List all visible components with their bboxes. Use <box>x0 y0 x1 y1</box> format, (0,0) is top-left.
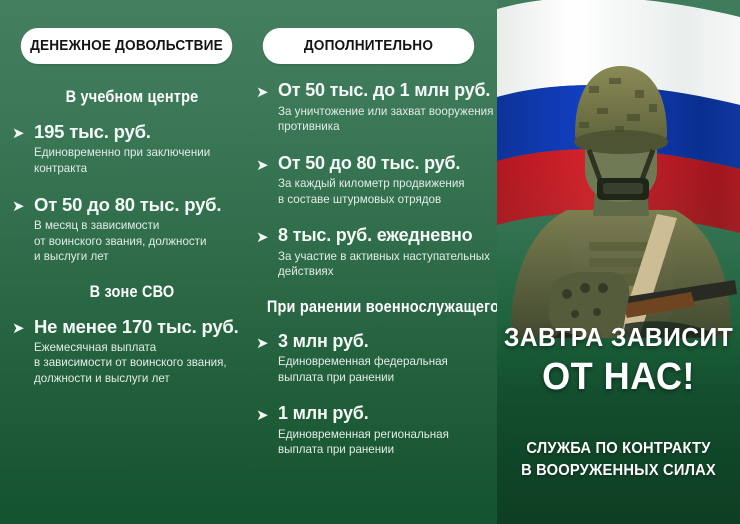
benefit-item: ➤От 50 тыс. до 1 млн руб.За уничтожение … <box>252 80 500 135</box>
benefit-description: Единовременная региональнаявыплата при р… <box>278 427 500 458</box>
benefit-description: За каждый километр продвиженияв составе … <box>278 176 500 207</box>
pill-monetary-allowance: ДЕНЕЖНОЕ ДОВОЛЬСТВИЕ <box>21 28 233 64</box>
benefit-amount: 3 млн руб. <box>278 331 500 352</box>
benefit-amount: От 50 тыс. до 1 млн руб. <box>278 80 500 101</box>
section-heading: При ранении военнослужащего <box>267 298 485 317</box>
right-panel: ЗАВТРА ЗАВИСИТ ОТ НАС! СЛУЖБА ПО КОНТРАК… <box>497 0 740 524</box>
column-left: В учебном центре➤195 тыс. руб.Единовреме… <box>8 88 256 404</box>
arrow-right-icon: ➤ <box>256 158 269 173</box>
arrow-right-icon: ➤ <box>256 85 269 100</box>
benefit-amount: От 50 до 80 тыс. руб. <box>34 194 256 215</box>
benefit-description: Единовременно при заключенииконтракта <box>34 145 256 176</box>
benefit-item: ➤От 50 до 80 тыс. руб.За каждый километр… <box>252 153 500 208</box>
tagline-line1: СЛУЖБА ПО КОНТРАКТУ <box>507 440 731 458</box>
benefit-item: ➤195 тыс. руб.Единовременно при заключен… <box>8 121 256 176</box>
benefit-amount: 1 млн руб. <box>278 403 500 424</box>
benefit-description: Ежемесячная выплатав зависимости от воин… <box>34 340 256 386</box>
benefit-amount: 195 тыс. руб. <box>34 121 256 142</box>
column-middle: ➤От 50 тыс. до 1 млн руб.За уничтожение … <box>252 80 500 476</box>
benefit-amount: От 50 до 80 тыс. руб. <box>278 153 500 174</box>
benefit-description: В месяц в зависимостиот воинского звания… <box>34 218 256 264</box>
benefit-amount: Не менее 170 тыс. руб. <box>34 316 256 337</box>
arrow-right-icon: ➤ <box>256 336 269 351</box>
benefit-description: Единовременная федеральнаявыплата при ра… <box>278 354 500 385</box>
pill-additional-label: ДОПОЛНИТЕЛЬНО <box>304 38 433 54</box>
arrow-right-icon: ➤ <box>12 321 25 336</box>
arrow-right-icon: ➤ <box>256 230 269 245</box>
arrow-right-icon: ➤ <box>12 126 25 141</box>
tagline-line2: В ВООРУЖЕННЫХ СИЛАХ <box>507 462 731 480</box>
arrow-right-icon: ➤ <box>12 199 25 214</box>
soldier-photo <box>505 38 737 338</box>
section-heading: В учебном центре <box>23 88 241 107</box>
recruitment-poster: ДЕНЕЖНОЕ ДОВОЛЬСТВИЕ ДОПОЛНИТЕЛЬНО В уче… <box>0 0 740 524</box>
pill-additional: ДОПОЛНИТЕЛЬНО <box>263 28 475 64</box>
arrow-right-icon: ➤ <box>256 408 269 423</box>
headline-line1: ЗАВТРА ЗАВИСИТ <box>503 322 734 353</box>
benefit-item: ➤1 млн руб.Единовременная региональнаявы… <box>252 403 500 458</box>
benefit-amount: 8 тыс. руб. ежедневно <box>278 225 500 246</box>
benefit-item: ➤Не менее 170 тыс. руб.Ежемесячная выпла… <box>8 316 256 386</box>
benefit-description: За уничтожение или захват вооруженияпрот… <box>278 104 500 135</box>
headline-line2: ОТ НАС! <box>503 356 734 399</box>
section-heading: В зоне СВО <box>23 283 241 302</box>
benefit-description: За участие в активных наступательныхдейс… <box>278 249 500 280</box>
benefit-item: ➤От 50 до 80 тыс. руб.В месяц в зависимо… <box>8 194 256 264</box>
pill-monetary-allowance-label: ДЕНЕЖНОЕ ДОВОЛЬСТВИЕ <box>30 38 223 54</box>
benefit-item: ➤8 тыс. руб. ежедневноЗа участие в актив… <box>252 225 500 280</box>
benefit-item: ➤3 млн руб.Единовременная федеральнаявып… <box>252 331 500 386</box>
